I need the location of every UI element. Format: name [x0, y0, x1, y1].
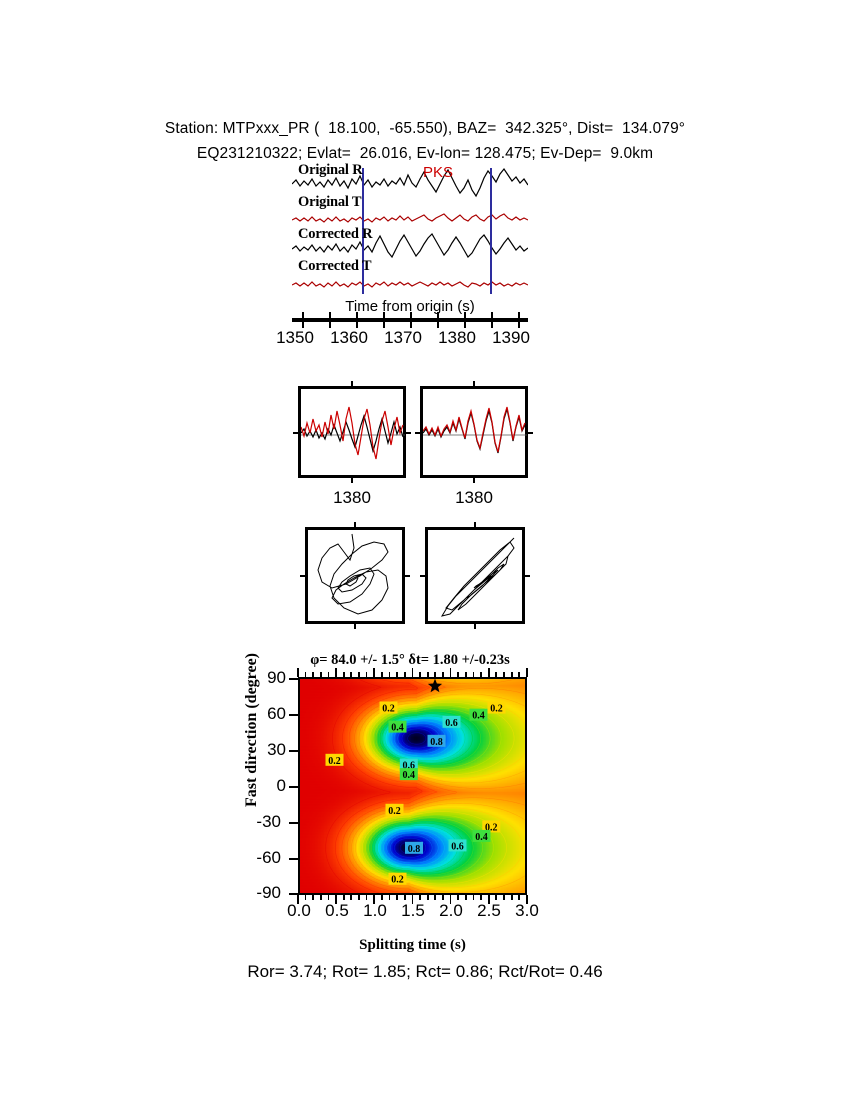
x-tick-top: [434, 672, 436, 677]
y-ticklabel: 30: [236, 740, 286, 760]
x-tick-top: [396, 672, 398, 677]
time-axis: [292, 312, 528, 326]
y-ticklabel: -90: [231, 883, 281, 903]
y-ticklabel: -30: [231, 812, 281, 832]
box-tick: [473, 381, 475, 389]
x-tick-top: [389, 672, 391, 677]
x-tick-minor: [511, 895, 513, 900]
overlay-box-left-ticklabel: 1380: [312, 488, 392, 508]
x-tick-minor: [503, 895, 505, 900]
x-tick-top: [450, 668, 452, 677]
y-ticklabel: -60: [231, 848, 281, 868]
time-tick: [302, 312, 304, 328]
box-tick: [351, 381, 353, 389]
box-tick: [474, 522, 476, 530]
contour-surface: 0.20.20.40.40.60.80.20.60.40.20.20.40.60…: [300, 679, 525, 893]
time-tick: [329, 312, 331, 328]
trace-label-corrected-r: Corrected R: [298, 226, 372, 243]
overlay-box-uncorrected: [298, 386, 406, 478]
box-tick: [293, 432, 301, 434]
x-tick-top: [480, 672, 482, 677]
header-event-line: EQ231210322; Evlat= 26.016, Ev-lon= 128.…: [0, 141, 850, 166]
box-tick: [402, 575, 410, 577]
x-tick-top: [312, 672, 314, 677]
trace-label-corrected-t: Corrected T: [298, 258, 371, 275]
y-tick: [289, 714, 298, 716]
time-tick: [437, 312, 439, 328]
x-tick-minor: [518, 895, 520, 900]
x-tick-minor: [312, 895, 314, 900]
figure-header: Station: MTPxxx_PR ( 18.100, -65.550), B…: [0, 116, 850, 166]
contour-label: 0.2: [386, 804, 404, 817]
x-tick-top: [495, 672, 497, 677]
x-tick-top: [503, 672, 505, 677]
time-tick: [383, 312, 385, 328]
x-tick-minor: [389, 895, 391, 900]
y-ticklabel: 0: [236, 776, 286, 796]
x-tick-top: [526, 668, 528, 677]
time-ticklabel: 1350: [272, 328, 318, 348]
contour-label: 0.6: [443, 716, 461, 729]
x-tick-top: [350, 672, 352, 677]
overlay-box-right-ticklabel: 1380: [434, 488, 514, 508]
time-tick: [491, 312, 493, 328]
y-ticklabel: 60: [236, 704, 286, 724]
x-tick-top: [373, 668, 375, 677]
y-tick: [289, 822, 298, 824]
x-tick-top: [305, 672, 307, 677]
box-tick: [300, 575, 308, 577]
x-tick-minor: [343, 895, 345, 900]
contour-label: 0.4: [473, 830, 491, 843]
trace-corrected-t: Corrected T: [292, 262, 528, 294]
x-tick-minor: [305, 895, 307, 900]
particle-motion-after: [425, 527, 525, 624]
x-tick-top: [335, 668, 337, 677]
contour-label: 0.2: [380, 702, 398, 715]
x-tick-top: [457, 672, 459, 677]
contour-label: 0.8: [405, 842, 423, 855]
x-tick-minor: [328, 895, 330, 900]
box-tick: [474, 621, 476, 629]
x-tick-top: [518, 672, 520, 677]
x-tick-minor: [419, 895, 421, 900]
x-tick-minor: [381, 895, 383, 900]
contour-x-axis-label: Splitting time (s): [298, 937, 527, 954]
x-tick-top: [442, 672, 444, 677]
contour-label: 0.8: [428, 735, 446, 748]
time-ticklabel: 1380: [434, 328, 480, 348]
contour-label: 0.4: [400, 768, 418, 781]
pks-phase-label: PKS: [423, 164, 453, 181]
trace-label-original-r: Original R: [298, 162, 362, 179]
energy-contour-plot: 0.20.20.40.40.60.80.20.60.40.20.20.40.60…: [298, 677, 527, 895]
x-tick-top: [358, 672, 360, 677]
contour-label: 0.6: [449, 839, 467, 852]
x-tick-top: [511, 672, 513, 677]
x-tick-minor: [320, 895, 322, 900]
contour-label: 0.2: [389, 873, 407, 886]
x-tick-minor: [358, 895, 360, 900]
box-tick: [522, 575, 530, 577]
x-tick-top: [297, 668, 299, 677]
x-tick-minor: [442, 895, 444, 900]
y-tick: [289, 678, 298, 680]
time-tick: [518, 312, 520, 328]
x-tick-minor: [480, 895, 482, 900]
x-ticklabel: 3.0: [504, 901, 550, 921]
x-tick-minor: [404, 895, 406, 900]
contour-plot-title: φ= 84.0 +/- 1.5° δt= 1.80 +/-0.23s: [230, 652, 590, 669]
x-tick-minor: [473, 895, 475, 900]
x-tick-minor: [350, 895, 352, 900]
x-tick-minor: [396, 895, 398, 900]
x-tick-top: [473, 672, 475, 677]
box-tick: [415, 432, 423, 434]
x-tick-top: [427, 672, 429, 677]
x-tick-top: [366, 672, 368, 677]
x-tick-top: [419, 672, 421, 677]
x-tick-minor: [457, 895, 459, 900]
box-tick: [473, 475, 475, 483]
time-ticklabel: 1390: [488, 328, 534, 348]
x-tick-minor: [434, 895, 436, 900]
window-marker-end: [490, 168, 492, 294]
box-tick: [351, 475, 353, 483]
x-tick-top: [381, 672, 383, 677]
particle-motion-before: [305, 527, 405, 624]
box-tick: [420, 575, 428, 577]
box-tick: [354, 621, 356, 629]
box-tick: [354, 522, 356, 530]
y-tick: [289, 858, 298, 860]
time-tick: [464, 312, 466, 328]
time-tick: [356, 312, 358, 328]
time-ticklabel: 1370: [380, 328, 426, 348]
x-tick-top: [320, 672, 322, 677]
y-tick: [289, 786, 298, 788]
contour-label: 0.2: [488, 702, 506, 715]
x-tick-minor: [495, 895, 497, 900]
x-tick-minor: [366, 895, 368, 900]
x-tick-top: [328, 672, 330, 677]
contour-label: 0.4: [470, 709, 488, 722]
time-ticklabel: 1360: [326, 328, 372, 348]
y-ticklabel: 90: [236, 668, 286, 688]
contour-label: 0.4: [389, 721, 407, 734]
quality-metrics-footer: Ror= 3.74; Rot= 1.85; Rct= 0.86; Rct/Rot…: [0, 962, 850, 982]
x-tick-top: [488, 668, 490, 677]
box-tick: [525, 432, 533, 434]
x-tick-top: [465, 672, 467, 677]
waveform-panel: PKS Original R Original T Corrected R Co…: [292, 166, 528, 296]
contour-label: 0.2: [326, 754, 344, 767]
y-tick: [289, 750, 298, 752]
time-tick: [410, 312, 412, 328]
overlay-box-corrected: [420, 386, 528, 478]
trace-label-original-t: Original T: [298, 194, 361, 211]
header-station-line: Station: MTPxxx_PR ( 18.100, -65.550), B…: [0, 116, 850, 141]
x-tick-top: [412, 668, 414, 677]
x-tick-top: [404, 672, 406, 677]
x-tick-top: [343, 672, 345, 677]
x-tick-minor: [465, 895, 467, 900]
box-tick: [403, 432, 411, 434]
x-tick-minor: [427, 895, 429, 900]
